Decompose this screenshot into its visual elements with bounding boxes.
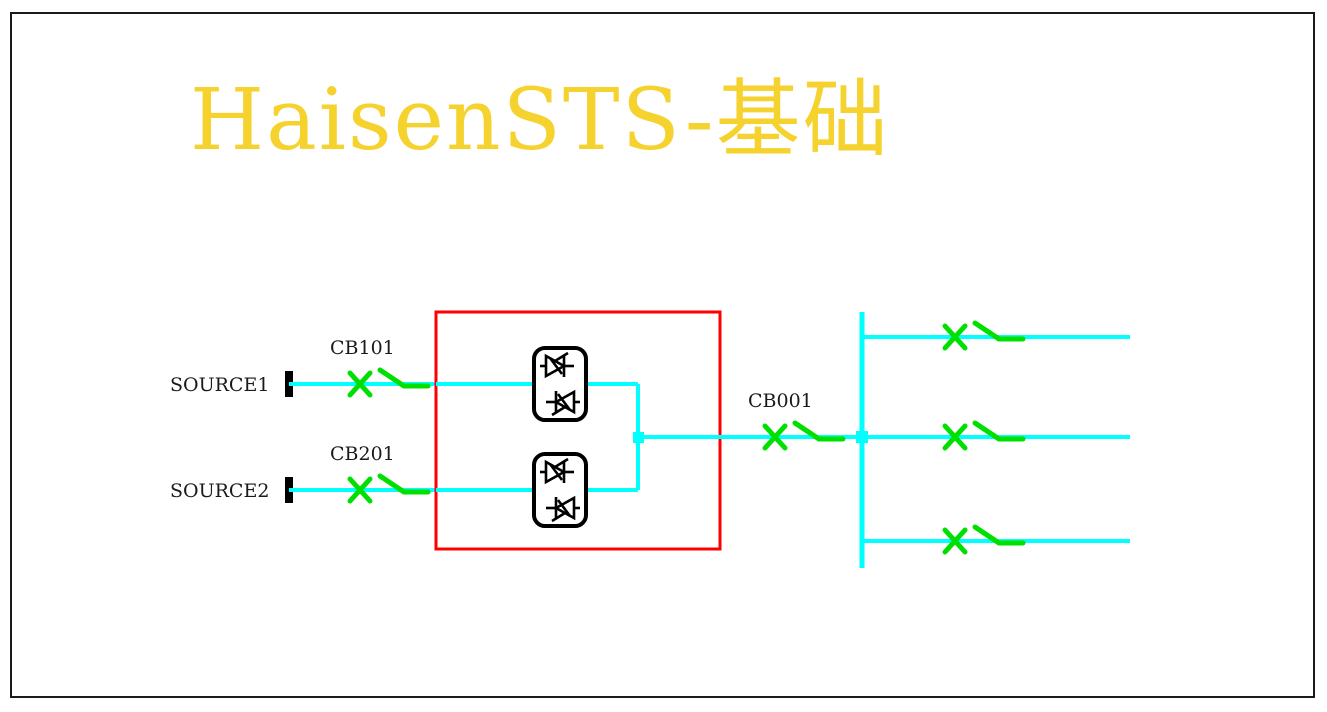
feeder-2[interactable] [862,423,1130,448]
diagram-canvas: HaisenSTS-基础 [0,0,1327,712]
source1-branch: SOURCE1 CB101 [170,337,436,397]
sts-module-2[interactable] [534,454,586,526]
cb001-label: CB001 [748,390,813,412]
feeder-1[interactable] [862,323,1130,348]
single-line-diagram: SOURCE1 CB101 SOURCE2 CB201 [0,0,1327,712]
main-busbar[interactable] [856,312,868,568]
sts-module-1[interactable] [534,348,586,420]
feeder-3[interactable] [862,527,1130,552]
cb101-label: CB101 [330,337,395,359]
cb001-branch: CB001 [720,390,862,448]
cb201-label: CB201 [330,443,395,465]
source1-label: SOURCE1 [170,374,269,396]
source2-label: SOURCE2 [170,480,269,502]
sts-output-junction-node [633,432,644,443]
source2-branch: SOURCE2 CB201 [170,443,436,503]
